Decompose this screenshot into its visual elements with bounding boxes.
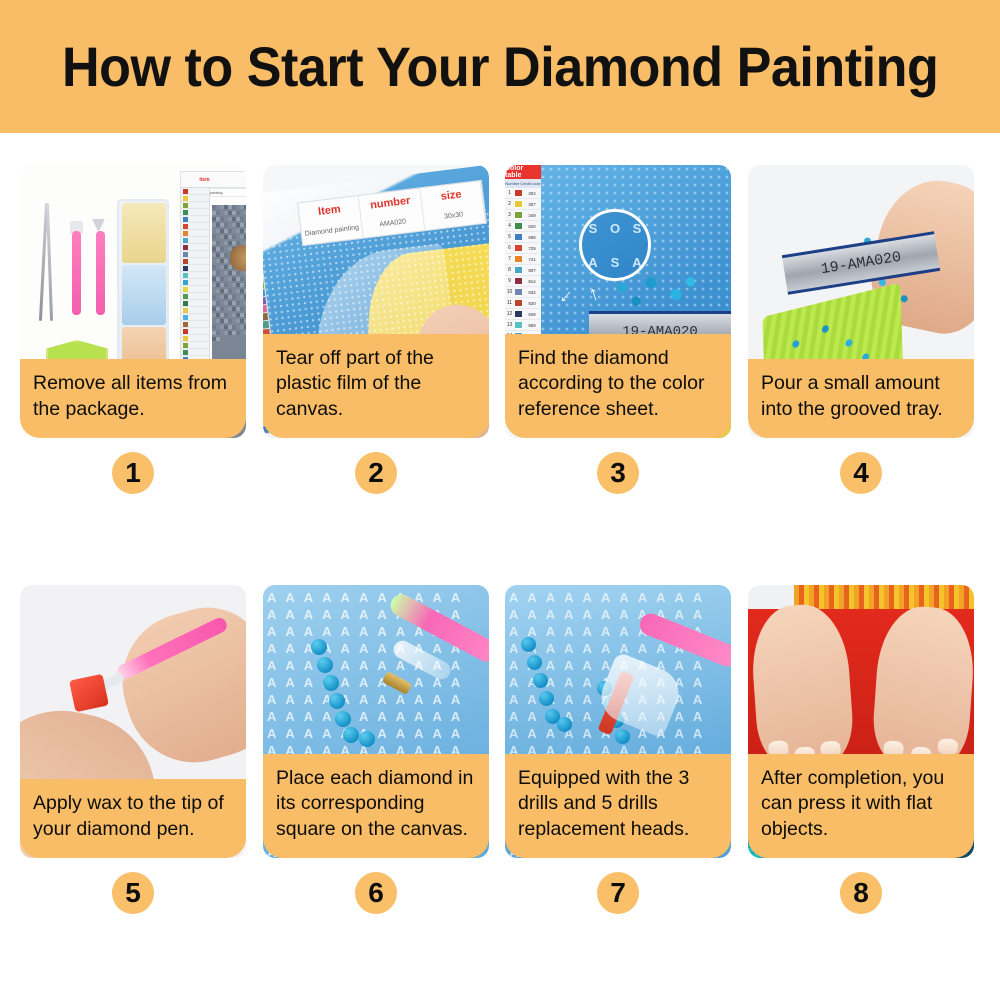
chart-strip-row <box>181 335 209 342</box>
placed-bead <box>335 711 351 727</box>
head-bead <box>615 729 630 744</box>
chart-strip-row <box>181 349 209 356</box>
step-1-badge-wrap: 1 <box>20 452 246 494</box>
step-2-card-body: Item number size Diamond painting AMA020… <box>263 165 489 438</box>
step-2-badge-wrap: 2 <box>263 452 489 494</box>
step-4-card-body: 19-AMA020 Pour a small amount into the g… <box>748 165 974 438</box>
chart-strip-row <box>181 216 209 223</box>
placed-bead <box>317 657 333 673</box>
step-number-badge-6: 6 <box>355 872 397 914</box>
step-number-badge-5: 5 <box>112 872 154 914</box>
diamond-pen-second-icon <box>96 231 105 315</box>
chart-strip-row <box>181 286 209 293</box>
step-card-5: Apply wax to the tip of your diamond pen… <box>20 585 246 914</box>
placed-bead <box>329 693 345 709</box>
chart-strip-row <box>181 314 209 321</box>
placed-bead <box>527 655 542 670</box>
step-number-badge-3: 3 <box>597 452 639 494</box>
chart-strip-row <box>181 244 209 251</box>
chart-strip-row <box>181 251 209 258</box>
chart-strip-row <box>181 328 209 335</box>
step-card-7: AAAAAAAAAAAAAAAAAAAAAAAAAAAAAAAAAAAAAAAA… <box>505 585 731 914</box>
chart-strip-row <box>181 279 209 286</box>
color-table-row: 2307 <box>505 199 541 210</box>
page-title: How to Start Your Diamond Painting <box>62 34 938 99</box>
step-3-caption: Find the diamond according to the color … <box>505 334 731 438</box>
color-table-row: 9814 <box>505 276 541 287</box>
step-card-2: Item number size Diamond painting AMA020… <box>263 165 489 494</box>
color-table-row: 5698 <box>505 232 541 243</box>
step-5-card-body: Apply wax to the tip of your diamond pen… <box>20 585 246 858</box>
chart-strip-row <box>181 195 209 202</box>
chart-strip-row <box>181 209 209 216</box>
chart-strip-row <box>181 321 209 328</box>
chart-strip-row <box>181 265 209 272</box>
loupe-sym-1: O <box>605 221 625 236</box>
loupe-sym-0: S <box>583 221 603 236</box>
chart-strip-row <box>181 258 209 265</box>
step-3-card-body: Color table Number Credit code 130423073… <box>505 165 731 438</box>
color-table-row: 8807 <box>505 265 541 276</box>
step-number-badge-4: 4 <box>840 452 882 494</box>
step-card-1: item number size Diamond painting ZWKY-2… <box>20 165 246 494</box>
chart-strip-row <box>181 202 209 209</box>
step-7-badge-wrap: 7 <box>505 872 731 914</box>
col-code-header: Credit code <box>520 181 540 186</box>
step-1-card-body: item number size Diamond painting ZWKY-2… <box>20 165 246 438</box>
color-table-row: 12939 <box>505 309 541 320</box>
chart-strip-row <box>181 237 209 244</box>
chart-strip-row <box>181 223 209 230</box>
chart-strip-row <box>181 272 209 279</box>
step-7-caption: Equipped with the 3 drills and 5 drills … <box>505 754 731 858</box>
placed-bead <box>343 727 359 743</box>
step-7-card-body: AAAAAAAAAAAAAAAAAAAAAAAAAAAAAAAAAAAAAAAA… <box>505 585 731 858</box>
steps-grid: item number size Diamond painting ZWKY-2… <box>0 133 1000 1000</box>
step-8-badge-wrap: 8 <box>748 872 974 914</box>
chart-strip-row <box>181 230 209 237</box>
step-4-badge-wrap: 4 <box>748 452 974 494</box>
loupe-sym-4: S <box>605 255 625 270</box>
color-table-title: Color table <box>505 165 541 179</box>
step-6-caption: Place each diamond in its corresponding … <box>263 754 489 858</box>
step-8-caption: After completion, you can press it with … <box>748 754 974 858</box>
loupe-sym-3: A <box>583 255 603 270</box>
step-6-badge-wrap: 6 <box>263 872 489 914</box>
chart-strip-row <box>181 188 209 195</box>
chart-strip-row <box>181 342 209 349</box>
step-card-6: AAAAAAAAAAAAAAAAAAAAAAAAAAAAAAAAAAAAAAAA… <box>263 585 489 914</box>
chart-header-row: item number size <box>180 171 246 188</box>
placed-bead <box>323 675 339 691</box>
loupe-sym-2: S <box>627 221 647 236</box>
step-card-8: WHAT IT TAK After completion, you can pr… <box>748 585 974 914</box>
step-8-card-body: WHAT IT TAK After completion, you can pr… <box>748 585 974 858</box>
step-4-caption: Pour a small amount into the grooved tra… <box>748 359 974 438</box>
wax-block <box>69 674 109 712</box>
step-6-card-body: AAAAAAAAAAAAAAAAAAAAAAAAAAAAAAAAAAAAAAAA… <box>263 585 489 858</box>
color-table-subheader: Number Credit code <box>505 179 541 188</box>
step-card-3: Color table Number Credit code 130423073… <box>505 165 731 494</box>
placed-bead <box>521 637 536 652</box>
step-number-badge-1: 1 <box>112 452 154 494</box>
step-5-badge-wrap: 5 <box>20 872 246 914</box>
chart-strip-row <box>181 293 209 300</box>
placed-bead <box>311 639 327 655</box>
step-5-caption: Apply wax to the tip of your diamond pen… <box>20 779 246 858</box>
placed-bead <box>539 691 554 706</box>
magnifier-loupe: S O S A S A <box>579 209 651 281</box>
color-table-row: 13959 <box>505 320 541 331</box>
color-table-row: 4620 <box>505 221 541 232</box>
color-table-row: 6729 <box>505 243 541 254</box>
step-number-badge-8: 8 <box>840 872 882 914</box>
step-1-caption: Remove all items from the package. <box>20 359 246 438</box>
chart-strip-row <box>181 300 209 307</box>
chart-header-item: item <box>199 177 209 183</box>
step-3-badge-wrap: 3 <box>505 452 731 494</box>
placed-bead <box>557 717 572 732</box>
chart-strip-row <box>181 307 209 314</box>
step-number-badge-7: 7 <box>597 872 639 914</box>
color-table-row: 10932 <box>505 287 541 298</box>
page-header: How to Start Your Diamond Painting <box>0 0 1000 133</box>
color-table-row: 1304 <box>505 188 541 199</box>
tweezers-second-icon <box>46 203 53 321</box>
placed-bead <box>359 731 375 747</box>
color-table-row: 7741 <box>505 254 541 265</box>
placed-bead <box>533 673 548 688</box>
col-number-header: Number <box>505 181 519 186</box>
color-table-row: 11920 <box>505 298 541 309</box>
color-table-row: 3349 <box>505 210 541 221</box>
step-number-badge-2: 2 <box>355 452 397 494</box>
diamond-pen-icon <box>72 231 81 315</box>
step-card-4: 19-AMA020 Pour a small amount into the g… <box>748 165 974 494</box>
step-2-caption: Tear off part of the plastic film of the… <box>263 334 489 438</box>
